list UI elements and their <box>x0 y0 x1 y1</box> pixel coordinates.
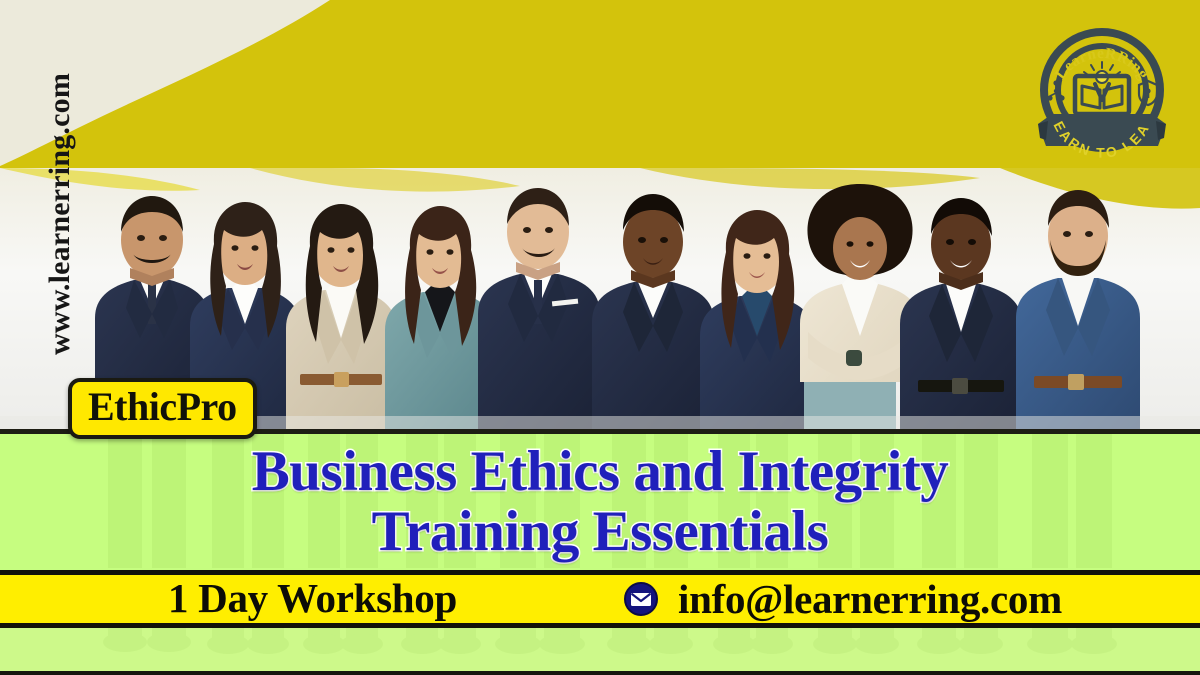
contact-email-group[interactable]: info@learnerring.com <box>624 575 1062 623</box>
bottom-strip <box>0 628 1200 672</box>
envelope-icon <box>624 582 658 616</box>
ghost-shoes-backdrop <box>0 628 1200 672</box>
vertical-website-url[interactable]: www.learnerring.com <box>38 54 82 374</box>
promotional-poster: www.learnerring.com LearneRRing <box>0 0 1200 675</box>
bottom-rule <box>0 671 1200 675</box>
title-band: Business Ethics and Integrity Training E… <box>0 434 1200 570</box>
logo-svg: LearneRRing <box>1026 16 1178 168</box>
ethicpro-badge[interactable]: EthicPro <box>68 378 257 439</box>
ethicpro-badge-label: EthicPro <box>88 384 237 429</box>
title-block: Business Ethics and Integrity Training E… <box>0 434 1200 570</box>
cta-bar: 1 Day Workshop info@learnerring.com <box>0 570 1200 628</box>
workshop-duration-label: 1 Day Workshop <box>168 574 457 622</box>
title-line-1: Business Ethics and Integrity <box>252 442 949 502</box>
contact-email-label: info@learnerring.com <box>678 575 1062 623</box>
title-line-2: Training Essentials <box>372 502 829 562</box>
learnerring-logo[interactable]: LearneRRing <box>1026 16 1178 168</box>
